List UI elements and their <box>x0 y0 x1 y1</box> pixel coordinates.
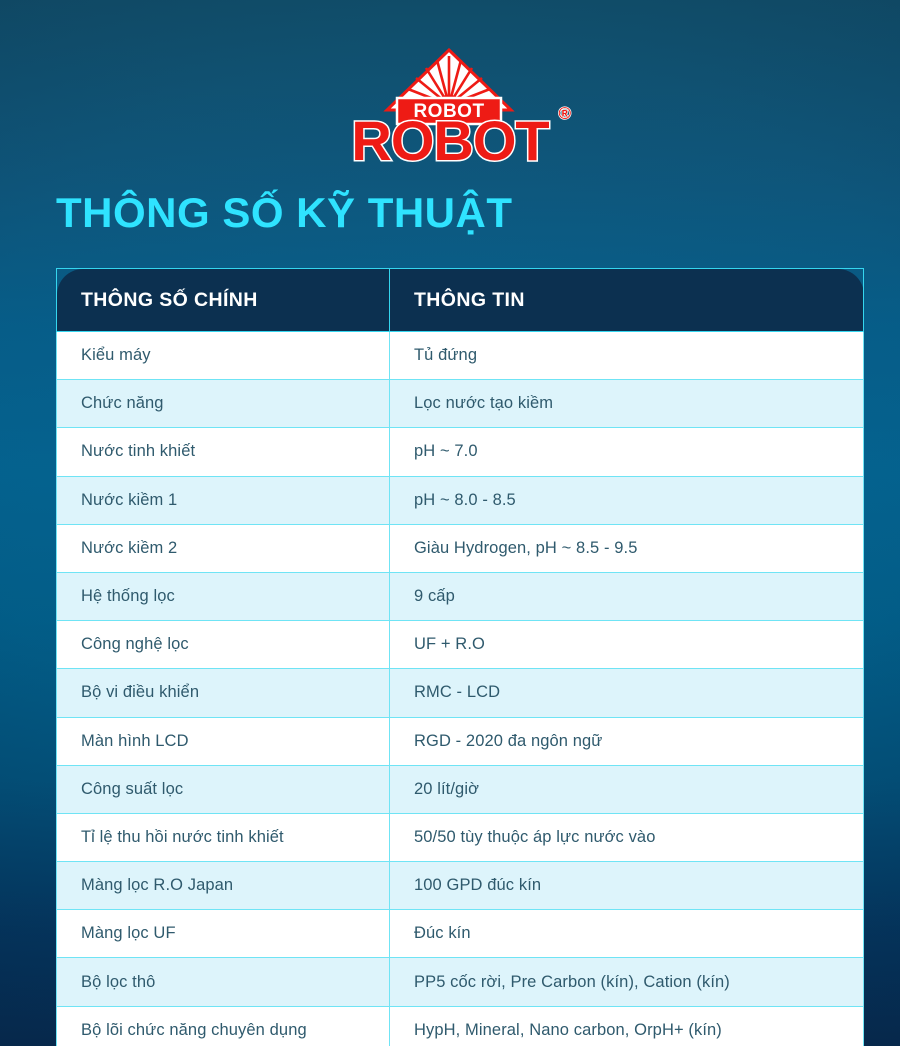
spec-value-cell: Giàu Hydrogen, pH ~ 8.5 - 9.5 <box>390 524 864 572</box>
header-row: THÔNG SỐ CHÍNH THÔNG TIN <box>57 269 864 332</box>
spec-name-cell: Nước tinh khiết <box>57 428 390 476</box>
table-row: Kiểu máyTủ đứng <box>57 332 864 380</box>
spec-name-cell: Tỉ lệ thu hồi nước tinh khiết <box>57 813 390 861</box>
column-header-value: THÔNG TIN <box>390 269 864 332</box>
table-row: Tỉ lệ thu hồi nước tinh khiết50/50 tùy t… <box>57 813 864 861</box>
table-row: Chức năngLọc nước tạo kiềm <box>57 380 864 428</box>
spec-value-cell: RGD - 2020 đa ngôn ngữ <box>390 717 864 765</box>
spec-value-cell: Tủ đứng <box>390 332 864 380</box>
spec-value-cell: UF + R.O <box>390 621 864 669</box>
spec-name-cell: Màng lọc R.O Japan <box>57 862 390 910</box>
spec-name-cell: Chức năng <box>57 380 390 428</box>
table-row: Màng lọc UFĐúc kín <box>57 910 864 958</box>
column-header-spec: THÔNG SỐ CHÍNH <box>57 269 390 332</box>
table-row: Nước kiềm 1pH ~ 8.0 - 8.5 <box>57 476 864 524</box>
spec-name-cell: Nước kiềm 2 <box>57 524 390 572</box>
spec-name-cell: Bộ lõi chức năng chuyên dụng <box>57 1006 390 1046</box>
spec-value-cell: 50/50 tùy thuộc áp lực nước vào <box>390 813 864 861</box>
table-header: THÔNG SỐ CHÍNH THÔNG TIN <box>57 269 864 332</box>
spec-value-cell: pH ~ 8.0 - 8.5 <box>390 476 864 524</box>
table-row: Màng lọc R.O Japan100 GPD đúc kín <box>57 862 864 910</box>
spec-name-cell: Công suất lọc <box>57 765 390 813</box>
table-row: Bộ lõi chức năng chuyên dụngHypH, Minera… <box>57 1006 864 1046</box>
registered-trademark-icon: ® <box>558 104 571 124</box>
spec-value-cell: HypH, Mineral, Nano carbon, OrpH+ (kín) <box>390 1006 864 1046</box>
spec-value-cell: 20 lít/giờ <box>390 765 864 813</box>
table-row: Hệ thống lọc9 cấp <box>57 572 864 620</box>
spec-value-cell: 100 GPD đúc kín <box>390 862 864 910</box>
specification-table: THÔNG SỐ CHÍNH THÔNG TIN Kiểu máyTủ đứng… <box>56 268 864 1046</box>
spec-value-cell: PP5 cốc rời, Pre Carbon (kín), Cation (k… <box>390 958 864 1006</box>
table-row: Màn hình LCDRGD - 2020 đa ngôn ngữ <box>57 717 864 765</box>
brand-logo-inner: ROBOT ROBOT ® <box>335 48 565 173</box>
spec-name-cell: Hệ thống lọc <box>57 572 390 620</box>
spec-value-cell: Đúc kín <box>390 910 864 958</box>
spec-value-cell: RMC - LCD <box>390 669 864 717</box>
table-row: Nước kiềm 2Giàu Hydrogen, pH ~ 8.5 - 9.5 <box>57 524 864 572</box>
spec-value-cell: 9 cấp <box>390 572 864 620</box>
spec-name-cell: Bộ lọc thô <box>57 958 390 1006</box>
table-row: Bộ lọc thôPP5 cốc rời, Pre Carbon (kín),… <box>57 958 864 1006</box>
spec-value-cell: pH ~ 7.0 <box>390 428 864 476</box>
table-row: Công nghệ lọcUF + R.O <box>57 621 864 669</box>
spec-value-cell: Lọc nước tạo kiềm <box>390 380 864 428</box>
brand-logo: ROBOT ROBOT ® <box>0 48 900 173</box>
table-row: Nước tinh khiếtpH ~ 7.0 <box>57 428 864 476</box>
table-row: Bộ vi điều khiểnRMC - LCD <box>57 669 864 717</box>
spec-name-cell: Công nghệ lọc <box>57 621 390 669</box>
spec-name-cell: Màn hình LCD <box>57 717 390 765</box>
spec-name-cell: Bộ vi điều khiển <box>57 669 390 717</box>
spec-sheet-page: ROBOT ROBOT ® THÔNG SỐ KỸ THUẬT THÔNG SỐ… <box>0 0 900 1046</box>
spec-name-cell: Kiểu máy <box>57 332 390 380</box>
table-row: Công suất lọc20 lít/giờ <box>57 765 864 813</box>
spec-name-cell: Màng lọc UF <box>57 910 390 958</box>
page-title: THÔNG SỐ KỸ THUẬT <box>56 189 513 237</box>
brand-wordmark: ROBOT <box>335 110 565 172</box>
table-body: Kiểu máyTủ đứngChức năngLọc nước tạo kiề… <box>57 332 864 1046</box>
spec-name-cell: Nước kiềm 1 <box>57 476 390 524</box>
